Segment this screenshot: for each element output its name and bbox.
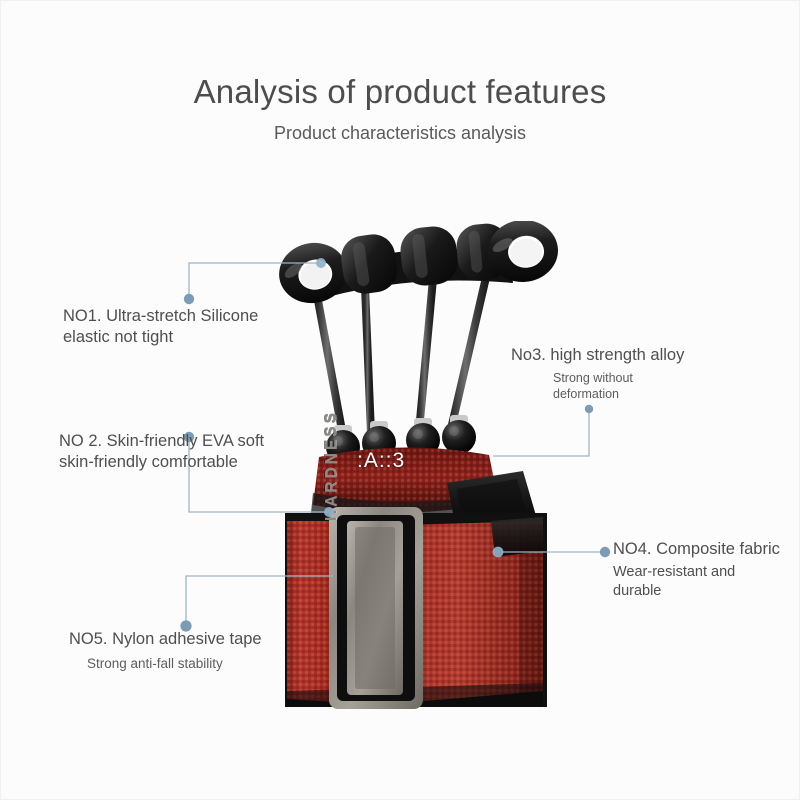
callout-no3-title: No3. high strength alloy — [511, 345, 761, 366]
callout-no5-desc: Strong anti-fall stability — [87, 656, 329, 672]
callout-no3-desc: Strong without deformation — [553, 370, 761, 402]
callout-no1-title: NO1. Ultra-stretch Silicone elastic not … — [63, 306, 323, 348]
product-overlay-text: :A::3 — [357, 449, 405, 473]
callout-no3: No3. high strength alloy Strong without … — [511, 345, 761, 402]
leader-dot-no1-text — [184, 294, 194, 304]
callout-no2-title: NO 2. Skin-friendly EVA soft skin-friend… — [59, 431, 329, 473]
velcro-tail — [491, 517, 543, 557]
callout-no4-desc: Wear-resistant and durable — [613, 563, 793, 601]
callout-no4: NO4. Composite fabric Wear-resistant and… — [613, 539, 793, 601]
callout-no4-title: NO4. Composite fabric — [613, 539, 793, 560]
callout-no2: NO 2. Skin-friendly EVA soft skin-friend… — [59, 431, 329, 473]
callout-no5-title: NO5. Nylon adhesive tape — [69, 629, 329, 650]
alloy-rods — [317, 273, 487, 436]
page-title: Analysis of product features — [1, 73, 799, 111]
finger-rings — [274, 221, 560, 308]
callout-no5: NO5. Nylon adhesive tape Strong anti-fal… — [69, 629, 329, 672]
hardness-buckle — [329, 507, 423, 709]
leader-dot-no3-text — [585, 405, 593, 413]
page-subtitle: Product characteristics analysis — [1, 123, 799, 144]
product-feature-infographic: Analysis of product features Product cha… — [0, 0, 800, 800]
callout-no1: NO1. Ultra-stretch Silicone elastic not … — [63, 306, 323, 348]
leader-dot-no4-text — [600, 547, 610, 557]
